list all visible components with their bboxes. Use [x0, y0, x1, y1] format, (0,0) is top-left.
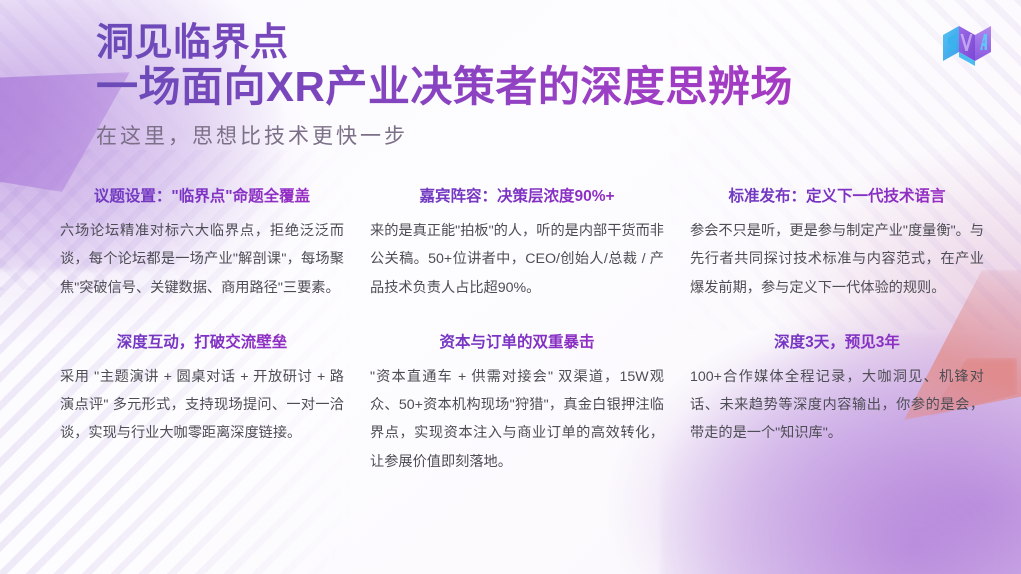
- feature-card-title: 议题设置："临界点"命题全覆盖: [60, 186, 344, 208]
- feature-card: 嘉宾阵容：决策层浓度90%+ 来的是真正能"拍板"的人，听的是内部干货而非公关稿…: [362, 186, 672, 302]
- feature-card-body: 采用 "主题演讲 + 圆桌对话 + 开放研讨 + 路演点评" 多元形式，支持现场…: [60, 363, 344, 448]
- slide-root: 洞见临界点 一场面向XR产业决策者的深度思辨场 一场面向XR产业决策者的深度思辨…: [0, 0, 1021, 574]
- feature-card-body: 六场论坛精准对标六大临界点，拒绝泛泛而谈，每个论坛都是一场产业"解剖课"，每场聚…: [60, 217, 344, 302]
- feature-card-body: 参会不只是听，更是参与制定产业"度量衡"。与先行者共同探讨技术标准与内容范式，在…: [690, 217, 984, 302]
- feature-card-grid: 议题设置："临界点"命题全覆盖 六场论坛精准对标六大临界点，拒绝泛泛而谈，每个论…: [52, 186, 982, 476]
- feature-card: 议题设置："临界点"命题全覆盖 六场论坛精准对标六大临界点，拒绝泛泛而谈，每个论…: [52, 186, 352, 302]
- page-title-line1: 洞见临界点: [96, 22, 916, 65]
- feature-card-title: 标准发布：定义下一代技术语言: [690, 186, 984, 208]
- feature-card: 深度3天，预见3年 100+合作媒体全程记录，大咖洞见、机锋对话、未来趋势等深度…: [682, 332, 992, 476]
- feature-card-title: 嘉宾阵容：决策层浓度90%+: [370, 186, 664, 208]
- feature-card: 标准发布：定义下一代技术语言 参会不只是听，更是参与制定产业"度量衡"。与先行者…: [682, 186, 992, 302]
- feature-card-title: 深度3天，预见3年: [690, 332, 984, 354]
- feature-card: 资本与订单的双重暴击 "资本直通车 + 供需对接会" 双渠道，15W观众、50+…: [362, 332, 672, 476]
- cube-logo-icon: [939, 22, 995, 70]
- feature-card: 深度互动，打破交流壁垒 采用 "主题演讲 + 圆桌对话 + 开放研讨 + 路演点…: [52, 332, 352, 476]
- feature-card-title: 深度互动，打破交流壁垒: [60, 332, 344, 354]
- page-title-line2: 一场面向XR产业决策者的深度思辨场: [96, 63, 916, 110]
- brand-logo: [939, 22, 995, 70]
- header: 洞见临界点 一场面向XR产业决策者的深度思辨场 一场面向XR产业决策者的深度思辨…: [96, 22, 916, 150]
- feature-card-title: 资本与订单的双重暴击: [370, 332, 664, 354]
- feature-card-body: 100+合作媒体全程记录，大咖洞见、机锋对话、未来趋势等深度内容输出，你参的是会…: [690, 363, 984, 448]
- page-subtitle: 在这里，思想比技术更快一步: [96, 120, 916, 150]
- feature-card-body: "资本直通车 + 供需对接会" 双渠道，15W观众、50+资本机构现场"狩猎"，…: [370, 363, 664, 477]
- feature-card-body: 来的是真正能"拍板"的人，听的是内部干货而非公关稿。50+位讲者中，CEO/创始…: [370, 217, 664, 302]
